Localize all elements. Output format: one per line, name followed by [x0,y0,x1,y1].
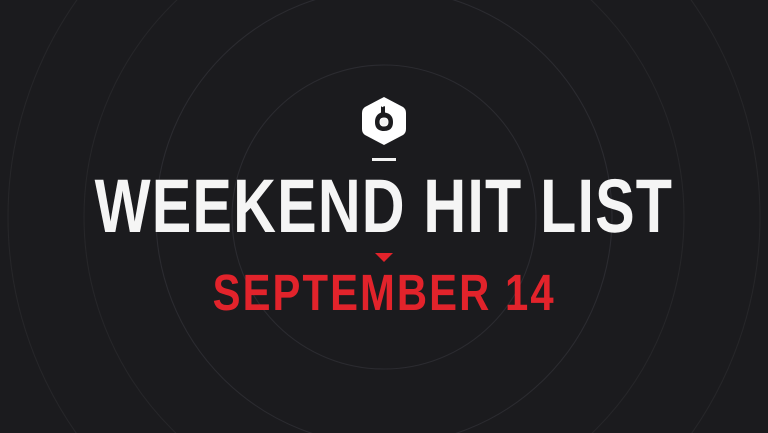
triangle-down-icon [375,253,393,262]
promo-graphic-canvas: WEEKEND HIT LIST SEPTEMBER 14 [0,0,768,433]
page-subtitle-date: SEPTEMBER 14 [213,273,556,314]
content-stack: WEEKEND HIT LIST SEPTEMBER 14 [0,0,768,433]
beats-hexagon-b-logo-icon [359,96,409,146]
page-title: WEEKEND HIT LIST [95,177,674,236]
horizontal-rule-divider [372,158,396,161]
